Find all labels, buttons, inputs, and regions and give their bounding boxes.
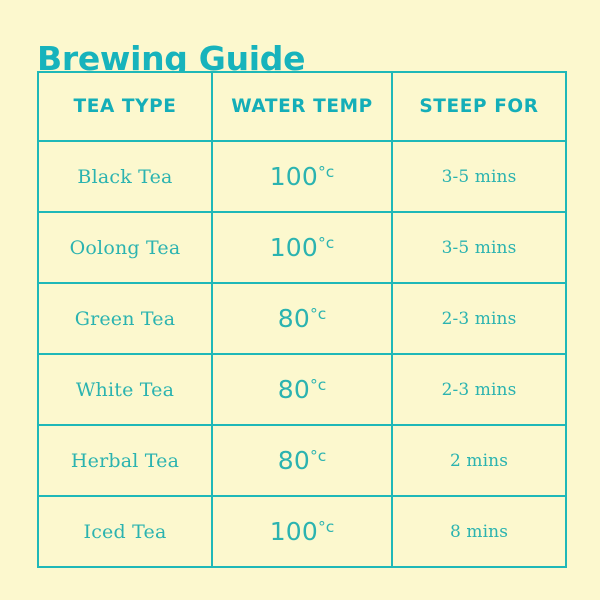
table-row: White Tea 80°c 2-3 mins [38,354,566,425]
temp-unit: °c [318,518,334,536]
temp-value: 100 [270,233,318,262]
cell-tea-type: Iced Tea [38,496,212,567]
cell-tea-type: Oolong Tea [38,212,212,283]
brewing-guide-page: Brewing Guide TEA TYPE WATER TEMP STEEP … [0,0,600,600]
cell-steep-for: 3-5 mins [392,212,566,283]
temp-value: 80 [278,446,310,475]
temp-unit: °c [318,234,334,252]
cell-water-temp: 80°c [212,354,392,425]
column-header-tea-type: TEA TYPE [38,72,212,141]
temp-value: 100 [270,162,318,191]
brewing-guide-table: TEA TYPE WATER TEMP STEEP FOR Black Tea … [37,71,567,568]
table-row: Oolong Tea 100°c 3-5 mins [38,212,566,283]
temp-value: 80 [278,375,310,404]
cell-water-temp: 100°c [212,141,392,212]
column-header-water-temp: WATER TEMP [212,72,392,141]
cell-water-temp: 100°c [212,212,392,283]
table-row: Black Tea 100°c 3-5 mins [38,141,566,212]
table-row: Iced Tea 100°c 8 mins [38,496,566,567]
cell-water-temp: 80°c [212,425,392,496]
table-header-row: TEA TYPE WATER TEMP STEEP FOR [38,72,566,141]
table-row: Green Tea 80°c 2-3 mins [38,283,566,354]
cell-steep-for: 2-3 mins [392,354,566,425]
cell-tea-type: Herbal Tea [38,425,212,496]
temp-unit: °c [310,447,326,465]
temp-unit: °c [310,305,326,323]
column-header-steep-for: STEEP FOR [392,72,566,141]
table-row: Herbal Tea 80°c 2 mins [38,425,566,496]
cell-steep-for: 8 mins [392,496,566,567]
cell-water-temp: 100°c [212,496,392,567]
table-header: TEA TYPE WATER TEMP STEEP FOR [38,72,566,141]
cell-tea-type: White Tea [38,354,212,425]
table-body: Black Tea 100°c 3-5 mins Oolong Tea 100°… [38,141,566,567]
temp-value: 100 [270,517,318,546]
cell-water-temp: 80°c [212,283,392,354]
cell-tea-type: Black Tea [38,141,212,212]
cell-steep-for: 2 mins [392,425,566,496]
temp-unit: °c [318,163,334,181]
cell-steep-for: 2-3 mins [392,283,566,354]
temp-value: 80 [278,304,310,333]
cell-tea-type: Green Tea [38,283,212,354]
cell-steep-for: 3-5 mins [392,141,566,212]
temp-unit: °c [310,376,326,394]
